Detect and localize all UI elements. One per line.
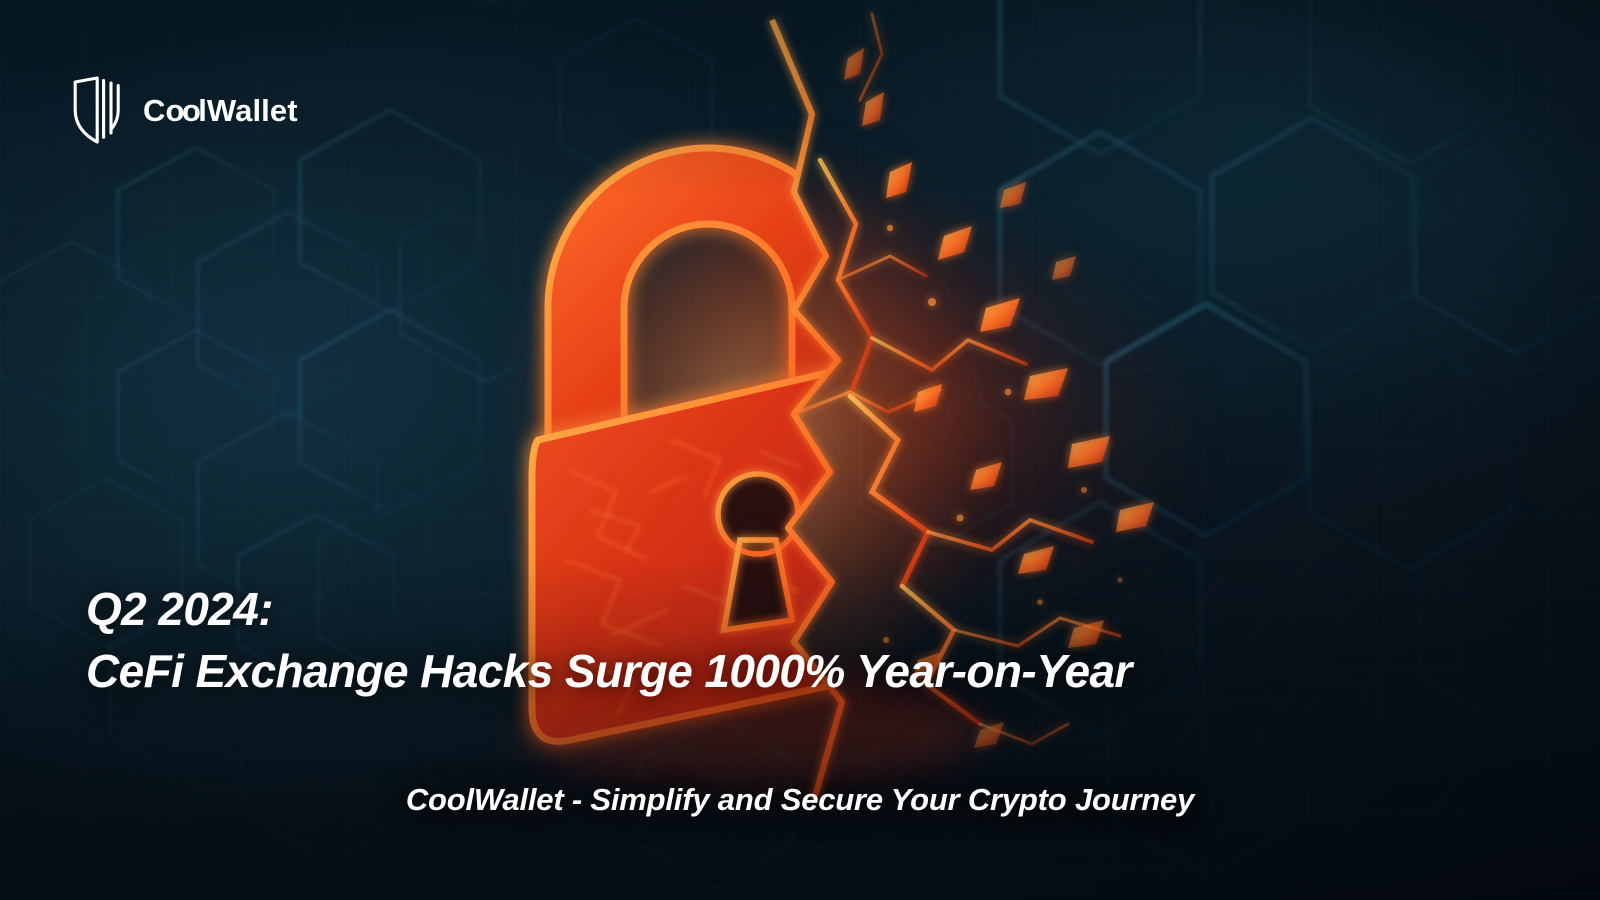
banner-root: CoolWallet Q2 2024: CeFi Exchange Hacks …	[0, 0, 1600, 900]
brand-tagline: CoolWallet - Simplify and Secure Your Cr…	[0, 782, 1600, 818]
brand-wordmark: CoolWallet	[143, 95, 298, 126]
shield-icon	[72, 76, 124, 144]
page-title: Q2 2024: CeFi Exchange Hacks Surge 1000%…	[86, 583, 1132, 697]
headline-line-2: CeFi Exchange Hacks Surge 1000% Year-on-…	[86, 645, 1132, 698]
headline-line-1: Q2 2024:	[86, 583, 1132, 636]
brand-logo[interactable]: CoolWallet	[72, 76, 298, 144]
wordmark-part-oo: oo	[166, 93, 199, 128]
wordmark-part-2: lWallet	[198, 93, 297, 128]
wordmark-part-1: C	[143, 93, 166, 128]
